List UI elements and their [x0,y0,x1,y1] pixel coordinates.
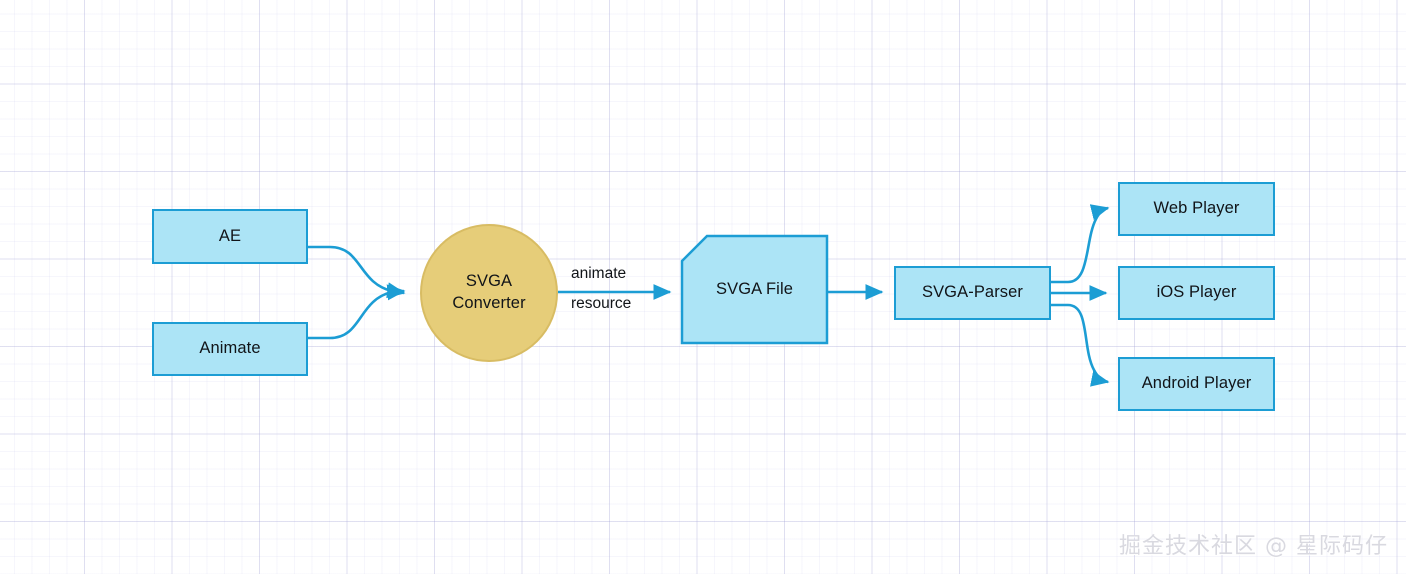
node-web-player-label: Web Player [1154,198,1240,220]
edge-animate-to-converter [308,291,404,338]
node-animate-label: Animate [199,338,260,360]
node-android-player-label: Android Player [1142,373,1252,395]
node-svga-parser-label: SVGA-Parser [922,282,1023,304]
node-ae-label: AE [219,226,241,248]
node-svga-converter-label: SVGA Converter [452,271,525,315]
node-svga-file[interactable]: SVGA File [682,236,827,343]
node-svga-file-label: SVGA File [716,279,793,301]
node-svga-converter-label-line1: SVGA [466,272,512,290]
edge-parser-to-web-player [1051,208,1108,282]
node-ios-player[interactable]: iOS Player [1118,266,1275,320]
edge-label-animate: animate [571,264,626,284]
watermark-text: 掘金技术社区 @ 星际码仔 [1119,528,1388,560]
node-ae[interactable]: AE [152,209,308,264]
edge-ae-to-converter [308,247,404,293]
node-ios-player-label: iOS Player [1157,282,1237,304]
node-svga-converter-label-line2: Converter [452,294,525,312]
node-svga-converter[interactable]: SVGA Converter [420,224,558,362]
node-android-player[interactable]: Android Player [1118,357,1275,411]
node-svga-parser[interactable]: SVGA-Parser [894,266,1051,320]
node-web-player[interactable]: Web Player [1118,182,1275,236]
edge-parser-to-android-player [1051,305,1108,382]
edge-label-resource: resource [571,294,631,314]
node-animate[interactable]: Animate [152,322,308,376]
diagram-canvas: AE Animate SVGA Converter SVGA File SVGA… [0,0,1406,574]
